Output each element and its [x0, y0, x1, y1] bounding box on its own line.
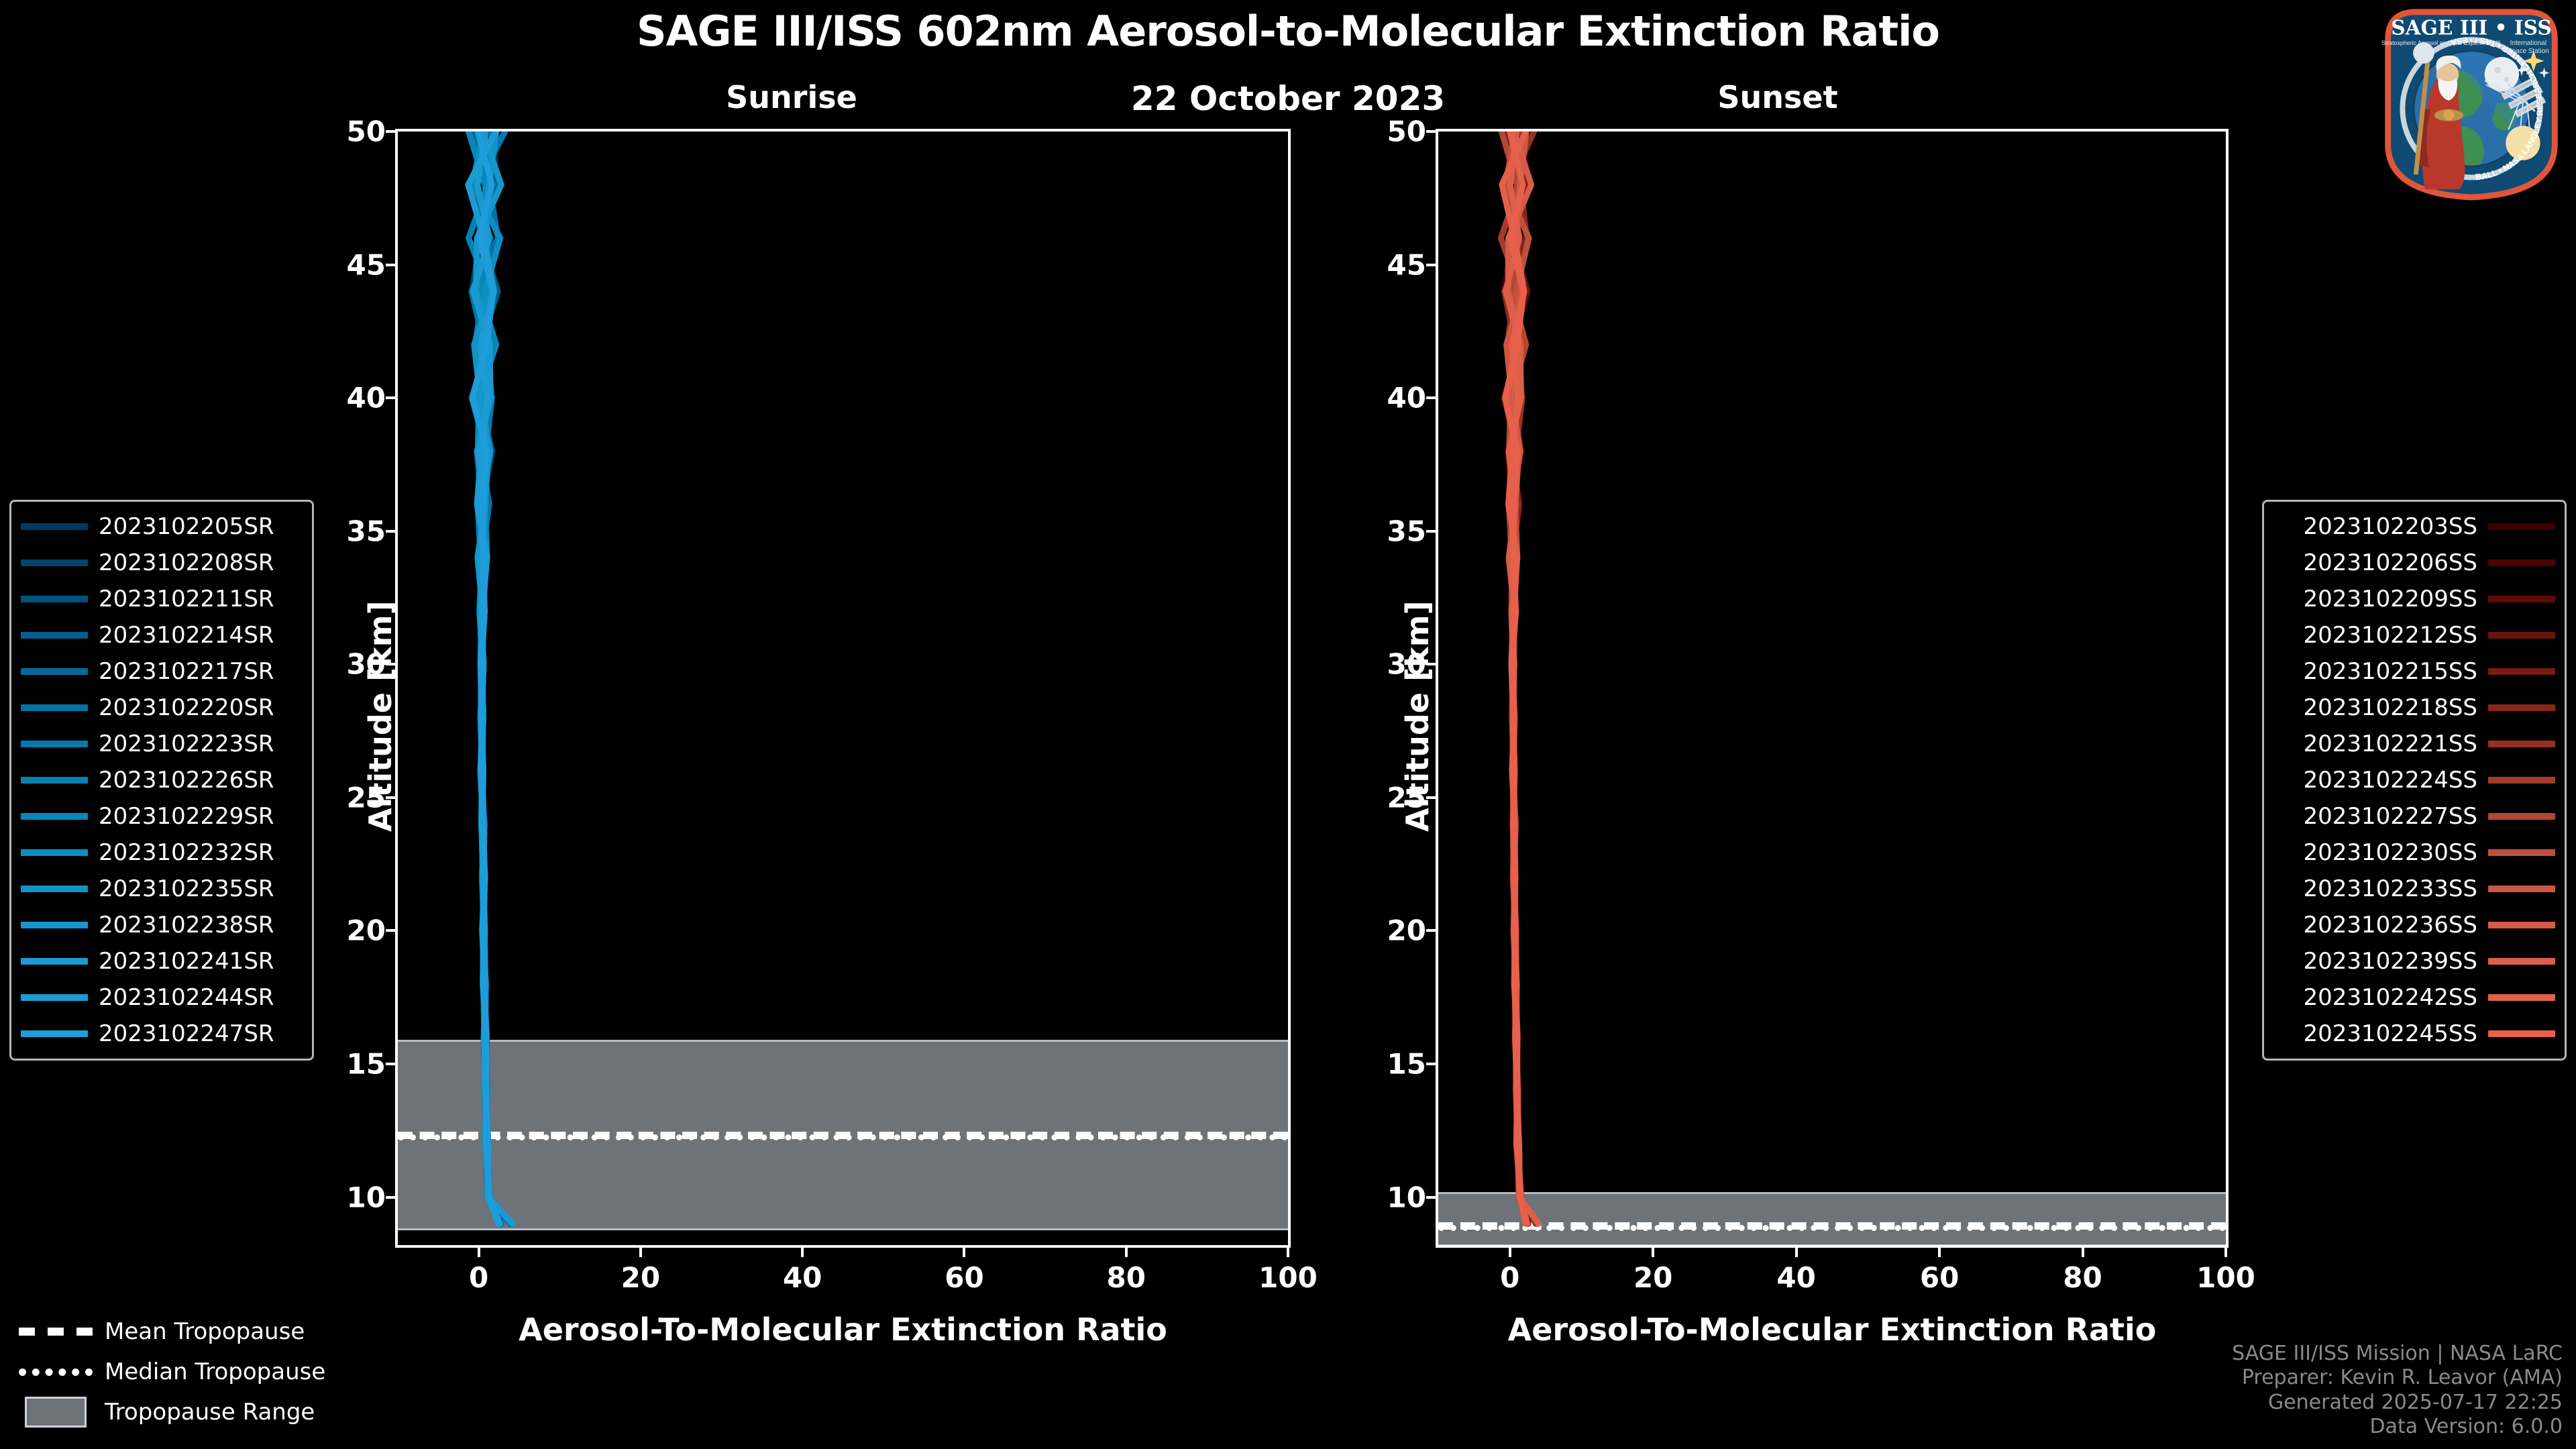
- legend-item-label: 2023102226SR: [88, 767, 285, 794]
- x-axis-tick-mark: [1287, 1245, 1289, 1257]
- legend-item-label: 2023102227SS: [2293, 803, 2488, 830]
- legend-item[interactable]: 2023102226SR: [21, 762, 303, 798]
- credit-line-generated: Generated 2025-07-17 22:25: [2232, 1391, 2563, 1415]
- y-axis-tick-mark: [386, 264, 398, 266]
- legend-item-label: 2023102203SS: [2293, 513, 2488, 540]
- legend-item-label: 2023102229SR: [88, 803, 285, 830]
- y-axis-tick-mark: [1426, 1196, 1438, 1199]
- legend-item-label: 2023102235SR: [88, 875, 285, 902]
- legend-item-label: 2023102218SS: [2293, 694, 2488, 721]
- x-axis-tick-mark: [1652, 1245, 1654, 1257]
- legend-item-median-tropopause: Median Tropopause: [19, 1352, 325, 1392]
- y-axis-tick-label: 20: [1387, 914, 1426, 947]
- legend-item[interactable]: 2023102211SR: [21, 581, 303, 617]
- legend-color-swatch: [21, 922, 88, 928]
- legend-item-label: 2023102211SR: [88, 586, 285, 612]
- x-axis-tick-mark: [478, 1245, 480, 1257]
- legend-color-swatch: [2488, 1030, 2555, 1037]
- sunrise-x-axis-label: Aerosol-To-Molecular Extinction Ratio: [395, 1311, 1291, 1348]
- legend-color-swatch: [2488, 813, 2555, 820]
- legend-item[interactable]: 2023102233SS: [2273, 871, 2555, 907]
- y-axis-tick-mark: [1426, 396, 1438, 399]
- legend-item[interactable]: 2023102214SR: [21, 617, 303, 653]
- legend-item-label: 2023102247SR: [88, 1020, 285, 1047]
- legend-color-swatch: [21, 632, 88, 639]
- legend-item-label: 2023102209SS: [2293, 586, 2488, 612]
- legend-color-swatch: [21, 704, 88, 711]
- legend-item[interactable]: 2023102235SR: [21, 871, 303, 907]
- legend-color-swatch: [2488, 523, 2555, 530]
- legend-item-tropopause-range: Tropopause Range: [19, 1392, 325, 1432]
- legend-color-swatch: [2488, 958, 2555, 965]
- legend-item[interactable]: 2023102205SR: [21, 508, 303, 545]
- x-axis-tick-label: 40: [1776, 1261, 1815, 1294]
- legend-item-label: 2023102208SR: [88, 549, 285, 576]
- legend-color-swatch: [21, 849, 88, 856]
- x-axis-tick-label: 100: [2196, 1261, 2255, 1294]
- x-axis-tick-label: 60: [1920, 1261, 1959, 1294]
- legend-item[interactable]: 2023102229SR: [21, 798, 303, 835]
- legend-color-swatch: [21, 668, 88, 675]
- y-axis-tick-mark: [386, 396, 398, 399]
- legend-item-label: 2023102224SS: [2293, 767, 2488, 794]
- legend-color-swatch: [2488, 922, 2555, 928]
- legend-color-swatch: [2488, 596, 2555, 602]
- legend-item-label: 2023102212SS: [2293, 622, 2488, 649]
- tropopause-legend: Mean Tropopause Median Tropopause Tropop…: [19, 1311, 325, 1432]
- legend-item[interactable]: 2023102209SS: [2273, 581, 2555, 617]
- legend-label-median-tropopause: Median Tropopause: [93, 1358, 325, 1385]
- y-axis-tick-label: 35: [347, 515, 386, 547]
- y-axis-tick-label: 45: [347, 248, 386, 281]
- legend-item[interactable]: 2023102215SS: [2273, 653, 2555, 690]
- dashed-line-icon: [19, 1328, 93, 1336]
- legend-color-swatch: [2488, 559, 2555, 566]
- legend-item[interactable]: 2023102241SR: [21, 943, 303, 979]
- legend-item[interactable]: 2023102227SS: [2273, 798, 2555, 835]
- y-axis-tick-mark: [1426, 530, 1438, 533]
- legend-color-swatch: [21, 885, 88, 892]
- y-axis-tick-mark: [1426, 929, 1438, 932]
- sunrise-plot-area: [398, 131, 1288, 1245]
- legend-color-swatch: [21, 741, 88, 747]
- sunset-profile-curves: [1438, 131, 2226, 1245]
- legend-color-swatch: [21, 994, 88, 1001]
- sunrise-legend[interactable]: 2023102205SR2023102208SR2023102211SR2023…: [9, 500, 314, 1061]
- legend-color-swatch: [2488, 849, 2555, 856]
- dotted-line-icon: [19, 1368, 93, 1376]
- legend-color-swatch: [21, 523, 88, 530]
- legend-item[interactable]: 2023102244SR: [21, 979, 303, 1016]
- x-axis-tick-mark: [1509, 1245, 1511, 1257]
- y-axis-tick-label: 45: [1387, 248, 1426, 281]
- legend-label-mean-tropopause: Mean Tropopause: [93, 1318, 305, 1345]
- x-axis-tick-label: 100: [1258, 1261, 1318, 1294]
- legend-color-swatch: [2488, 704, 2555, 711]
- x-axis-tick-mark: [963, 1245, 965, 1257]
- x-axis-tick-mark: [639, 1245, 642, 1257]
- y-axis-tick-mark: [386, 130, 398, 133]
- y-axis-tick-mark: [1426, 1063, 1438, 1065]
- sunrise-plot-panel: 101520253035404550020406080100: [395, 129, 1291, 1248]
- legend-item[interactable]: 2023102218SS: [2273, 690, 2555, 726]
- y-axis-tick-label: 10: [347, 1181, 386, 1214]
- y-axis-tick-mark: [386, 1063, 398, 1065]
- y-axis-tick-mark: [386, 1196, 398, 1199]
- x-axis-tick-mark: [1795, 1245, 1798, 1257]
- legend-color-swatch: [2488, 777, 2555, 784]
- x-axis-tick-label: 20: [1633, 1261, 1672, 1294]
- legend-item[interactable]: 2023102208SR: [21, 545, 303, 581]
- legend-color-swatch: [2488, 885, 2555, 892]
- y-axis-tick-label: 40: [347, 382, 386, 415]
- legend-item-label: 2023102242SS: [2293, 984, 2488, 1011]
- x-axis-tick-label: 60: [945, 1261, 983, 1294]
- y-axis-tick-mark: [386, 929, 398, 932]
- y-axis-tick-label: 40: [1387, 382, 1426, 415]
- legend-item-label: 2023102220SR: [88, 694, 285, 721]
- filled-box-icon: [19, 1397, 93, 1428]
- sunset-y-axis-label: Altitude [km]: [1399, 600, 1436, 832]
- sunset-panel-title: Sunset: [1644, 79, 1912, 115]
- logo-subtitle-right-1: International: [2510, 40, 2546, 47]
- sunset-legend[interactable]: 2023102203SS2023102206SS2023102209SS2023…: [2262, 500, 2567, 1061]
- credit-line-mission: SAGE III/ISS Mission | NASA LaRC: [2232, 1342, 2563, 1366]
- legend-color-swatch: [21, 777, 88, 784]
- sunrise-y-axis-label: Altitude [km]: [362, 600, 398, 832]
- y-axis-tick-label: 15: [347, 1047, 386, 1080]
- legend-item-label: 2023102238SR: [88, 912, 285, 938]
- y-axis-tick-label: 10: [1387, 1181, 1426, 1214]
- legend-item[interactable]: 2023102221SS: [2273, 726, 2555, 762]
- legend-item-label: 2023102217SR: [88, 658, 285, 685]
- x-axis-tick-mark: [801, 1245, 804, 1257]
- x-axis-tick-mark: [1938, 1245, 1941, 1257]
- legend-item[interactable]: 2023102245SS: [2273, 1016, 2555, 1052]
- legend-color-swatch: [2488, 632, 2555, 639]
- legend-item-mean-tropopause: Mean Tropopause: [19, 1311, 325, 1352]
- legend-item[interactable]: 2023102224SS: [2273, 762, 2555, 798]
- legend-item[interactable]: 2023102220SR: [21, 690, 303, 726]
- legend-item-label: 2023102206SS: [2293, 549, 2488, 576]
- y-axis-tick-label: 20: [347, 914, 386, 947]
- footer-credits: SAGE III/ISS Mission | NASA LaRC Prepare…: [2232, 1342, 2563, 1440]
- x-axis-tick-mark: [2224, 1245, 2227, 1257]
- x-axis-tick-label: 0: [469, 1261, 488, 1294]
- y-axis-tick-label: 50: [347, 115, 386, 148]
- x-axis-tick-label: 80: [2063, 1261, 2102, 1294]
- legend-item[interactable]: 2023102217SR: [21, 653, 303, 690]
- legend-item-label: 2023102233SS: [2293, 875, 2488, 902]
- legend-item-label: 2023102245SS: [2293, 1020, 2488, 1047]
- legend-label-tropopause-range: Tropopause Range: [93, 1399, 315, 1426]
- credit-line-data-version: Data Version: 6.0.0: [2232, 1415, 2563, 1440]
- x-axis-tick-label: 40: [783, 1261, 822, 1294]
- legend-color-swatch: [21, 813, 88, 820]
- legend-item-label: 2023102232SR: [88, 839, 285, 866]
- sunset-plot-panel: 101520253035404550020406080100: [1436, 129, 2229, 1248]
- x-axis-tick-label: 20: [621, 1261, 660, 1294]
- x-axis-tick-mark: [1125, 1245, 1128, 1257]
- y-axis-tick-mark: [386, 530, 398, 533]
- y-axis-tick-mark: [1426, 130, 1438, 133]
- legend-item[interactable]: 2023102242SS: [2273, 979, 2555, 1016]
- observation-date: 22 October 2023: [1020, 79, 1556, 118]
- y-axis-tick-mark: [1426, 264, 1438, 266]
- legend-color-swatch: [21, 559, 88, 566]
- legend-item[interactable]: 2023102203SS: [2273, 508, 2555, 545]
- sunset-x-axis-label: Aerosol-To-Molecular Extinction Ratio: [1436, 1311, 2229, 1348]
- legend-item[interactable]: 2023102238SR: [21, 907, 303, 943]
- y-axis-tick-label: 15: [1387, 1047, 1426, 1080]
- legend-color-swatch: [21, 596, 88, 602]
- page-title: SAGE III/ISS 602nm Aerosol-to-Molecular …: [0, 7, 2576, 56]
- sunset-plot-area: [1438, 131, 2226, 1245]
- legend-color-swatch: [21, 958, 88, 965]
- legend-item-label: 2023102223SR: [88, 731, 285, 757]
- subtitle-row: Sunrise 22 October 2023 Sunset: [0, 79, 2576, 126]
- sunrise-panel-title: Sunrise: [657, 79, 926, 115]
- legend-item[interactable]: 2023102223SR: [21, 726, 303, 762]
- legend-color-swatch: [2488, 741, 2555, 747]
- legend-item[interactable]: 2023102230SS: [2273, 835, 2555, 871]
- x-axis-tick-mark: [2082, 1245, 2084, 1257]
- legend-item[interactable]: 2023102247SR: [21, 1016, 303, 1052]
- legend-color-swatch: [2488, 668, 2555, 675]
- x-axis-tick-label: 80: [1106, 1261, 1145, 1294]
- legend-color-swatch: [2488, 994, 2555, 1001]
- legend-item-label: 2023102215SS: [2293, 658, 2488, 685]
- legend-item[interactable]: 2023102212SS: [2273, 617, 2555, 653]
- legend-item-label: 2023102241SR: [88, 948, 285, 975]
- legend-item-label: 2023102230SS: [2293, 839, 2488, 866]
- legend-item-label: 2023102244SR: [88, 984, 285, 1011]
- credit-line-preparer: Preparer: Kevin R. Leavor (AMA): [2232, 1366, 2563, 1391]
- x-axis-tick-label: 0: [1500, 1261, 1519, 1294]
- legend-item[interactable]: 2023102232SR: [21, 835, 303, 871]
- y-axis-tick-label: 35: [1387, 515, 1426, 547]
- y-axis-tick-label: 50: [1387, 115, 1426, 148]
- legend-color-swatch: [21, 1030, 88, 1037]
- sunrise-profile-curves: [398, 131, 1288, 1245]
- legend-item-label: 2023102214SR: [88, 622, 285, 649]
- legend-item-label: 2023102205SR: [88, 513, 285, 540]
- legend-item-label: 2023102236SS: [2293, 912, 2488, 938]
- legend-item[interactable]: 2023102239SS: [2273, 943, 2555, 979]
- legend-item[interactable]: 2023102206SS: [2273, 545, 2555, 581]
- legend-item-label: 2023102221SS: [2293, 731, 2488, 757]
- legend-item[interactable]: 2023102236SS: [2273, 907, 2555, 943]
- legend-item-label: 2023102239SS: [2293, 948, 2488, 975]
- sage-iii-iss-mission-patch-logo: SAGE III • ISS Stratospheric Aerosol and…: [2372, 3, 2571, 201]
